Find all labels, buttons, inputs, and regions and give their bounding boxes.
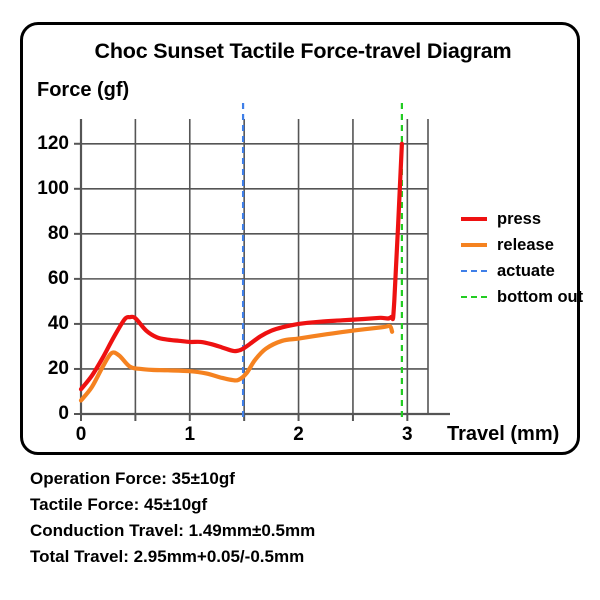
y-tick-label: 40 xyxy=(23,313,69,335)
spec-line: Total Travel: 2.95mm+0.05/-0.5mm xyxy=(30,544,590,570)
screenshot-root: Choc Sunset Tactile Force-travel Diagram… xyxy=(0,0,600,600)
y-tick-label: 100 xyxy=(23,178,69,200)
y-tick-label: 80 xyxy=(23,223,69,245)
x-tick-label: 0 xyxy=(76,424,87,446)
legend-item-actuate[interactable]: actuate xyxy=(461,258,591,284)
specification-list: Operation Force: 35±10gfTactile Force: 4… xyxy=(30,466,590,570)
legend-swatch-icon xyxy=(461,238,487,252)
spec-line: Tactile Force: 45±10gf xyxy=(30,492,590,518)
legend-swatch-icon xyxy=(461,264,487,278)
x-tick-label: 3 xyxy=(402,424,413,446)
spec-line: Operation Force: 35±10gf xyxy=(30,466,590,492)
x-tick-label: 1 xyxy=(184,424,195,446)
x-tick-label: 2 xyxy=(293,424,304,446)
y-tick-label: 20 xyxy=(23,358,69,380)
y-tick-label: 0 xyxy=(23,403,69,425)
series-line-release xyxy=(81,326,392,401)
chart-card: Choc Sunset Tactile Force-travel Diagram… xyxy=(20,22,580,455)
legend-swatch-icon xyxy=(461,290,487,304)
legend-item-release[interactable]: release xyxy=(461,232,591,258)
legend-swatch-icon xyxy=(461,212,487,226)
y-tick-label: 60 xyxy=(23,268,69,290)
series-line-press xyxy=(81,144,402,389)
legend-item-bottom-out[interactable]: bottom out xyxy=(461,284,591,310)
legend-label: release xyxy=(497,236,554,255)
legend-item-press[interactable]: press xyxy=(461,206,591,232)
chart-legend: pressreleaseactuatebottom out xyxy=(461,206,591,310)
y-tick-label: 120 xyxy=(23,133,69,155)
spec-line: Conduction Travel: 1.49mm±0.5mm xyxy=(30,518,590,544)
legend-label: bottom out xyxy=(497,288,583,307)
legend-label: actuate xyxy=(497,262,555,281)
legend-label: press xyxy=(497,210,541,229)
